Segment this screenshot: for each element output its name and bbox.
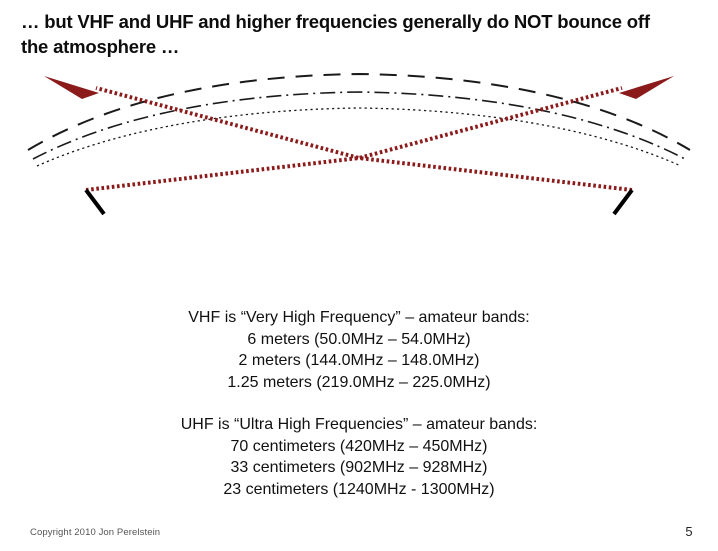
outgoing-ray-left [96, 88, 632, 190]
uhf-band-33cm: 33 centimeters (902MHz – 928MHz) [0, 457, 718, 479]
atmosphere-layer-outer-dashed [28, 74, 690, 150]
arrowhead-left-icon [44, 76, 99, 99]
page-title-line-1: … but VHF and UHF and higher frequencies… [21, 11, 650, 32]
page-title-line-2: the atmosphere … [21, 36, 179, 57]
vhf-heading: VHF is “Very High Frequency” – amateur b… [0, 307, 718, 329]
arrowhead-right-icon [619, 76, 674, 99]
uhf-band-23cm: 23 centimeters (1240MHz - 1300MHz) [0, 479, 718, 501]
page-number: 5 [679, 524, 699, 539]
vhf-band-125m: 1.25 meters (219.0MHz – 225.0MHz) [0, 372, 718, 394]
slide-canvas: … but VHF and UHF and higher frequencies… [0, 0, 718, 551]
vhf-block: VHF is “Very High Frequency” – amateur b… [0, 307, 718, 393]
band-list-block: VHF is “Very High Frequency” – amateur b… [0, 307, 718, 500]
page-title: … but VHF and UHF and higher frequencies… [21, 9, 703, 59]
atmosphere-layer-inner-dotted [37, 108, 681, 166]
atmosphere-layer-middle-dashdot [33, 92, 685, 159]
vhf-band-6m: 6 meters (50.0MHz – 54.0MHz) [0, 329, 718, 351]
outgoing-ray-right [86, 88, 622, 190]
vhf-band-2m: 2 meters (144.0MHz – 148.0MHz) [0, 350, 718, 372]
right-antenna [614, 190, 632, 214]
left-antenna [86, 190, 104, 214]
uhf-block: UHF is “Ultra High Frequencies” – amateu… [0, 414, 718, 500]
uhf-band-70cm: 70 centimeters (420MHz – 450MHz) [0, 436, 718, 458]
copyright-notice: Copyright 2010 Jon Perelstein [30, 527, 160, 538]
atmosphere-diagram [0, 58, 718, 283]
paragraph-spacer [0, 393, 718, 414]
uhf-heading: UHF is “Ultra High Frequencies” – amateu… [0, 414, 718, 436]
diagram-svg [0, 58, 718, 283]
